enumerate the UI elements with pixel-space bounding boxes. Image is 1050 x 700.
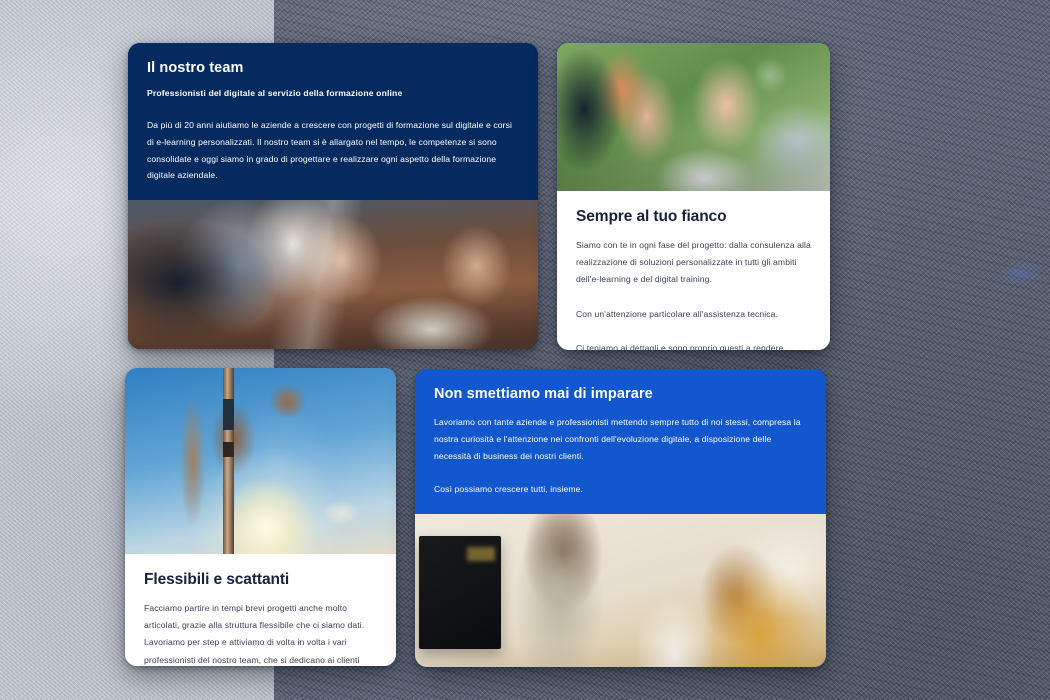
card-1-subtitle: Professionisti del digitale al servizio … [147, 88, 519, 98]
card-3-paragraph-1: Facciamo partire in tempi brevi progetti… [144, 600, 377, 666]
athlete-jump-photo [125, 368, 396, 554]
applauding-hands-photo [557, 43, 830, 191]
card-2-paragraph-3: Ci teniamo ai dettagli e sono proprio qu… [576, 340, 811, 350]
card-2-paragraph-1: Siamo con te in ogni fase del progetto: … [576, 237, 811, 289]
card-2-title: Sempre al tuo fianco [576, 208, 811, 226]
card-il-nostro-team[interactable]: Il nostro team Professionisti del digita… [128, 43, 538, 349]
card-1-paragraph-1: Da più di 20 anni aiutiamo le aziende a … [147, 117, 519, 184]
card-4-text-pane: Non smettiamo mai di imparare Lavoriamo … [415, 369, 826, 514]
team-meeting-photo [128, 200, 538, 349]
card-3-title: Flessibili e scattanti [144, 571, 377, 589]
card-2-text-pane: Sempre al tuo fianco Siamo con te in ogn… [557, 191, 830, 350]
card-4-title: Non smettiamo mai di imparare [434, 386, 807, 402]
card-4-paragraph-1: Lavoriamo con tante aziende e profession… [434, 414, 807, 464]
training-session-photo [415, 514, 826, 667]
card-non-smettiamo-mai-di-imparare[interactable]: Non smettiamo mai di imparare Lavoriamo … [415, 369, 826, 667]
card-flessibili-e-scattanti[interactable]: Flessibili e scattanti Facciamo partire … [125, 368, 396, 666]
card-sempre-al-tuo-fianco[interactable]: Sempre al tuo fianco Siamo con te in ogn… [557, 43, 830, 350]
background-blue-smudge [998, 262, 1044, 284]
page-root: Il nostro team Professionisti del digita… [0, 0, 1050, 700]
wall-screen [419, 536, 501, 649]
card-4-paragraph-2: Così possiamo crescere tutti, insieme. [434, 481, 807, 498]
pole-prop [223, 368, 234, 554]
card-2-paragraph-2: Con un'attenzione particolare all'assist… [576, 306, 811, 323]
card-1-title: Il nostro team [147, 60, 519, 76]
card-1-text-pane: Il nostro team Professionisti del digita… [128, 43, 538, 200]
card-3-text-pane: Flessibili e scattanti Facciamo partire … [125, 554, 396, 666]
